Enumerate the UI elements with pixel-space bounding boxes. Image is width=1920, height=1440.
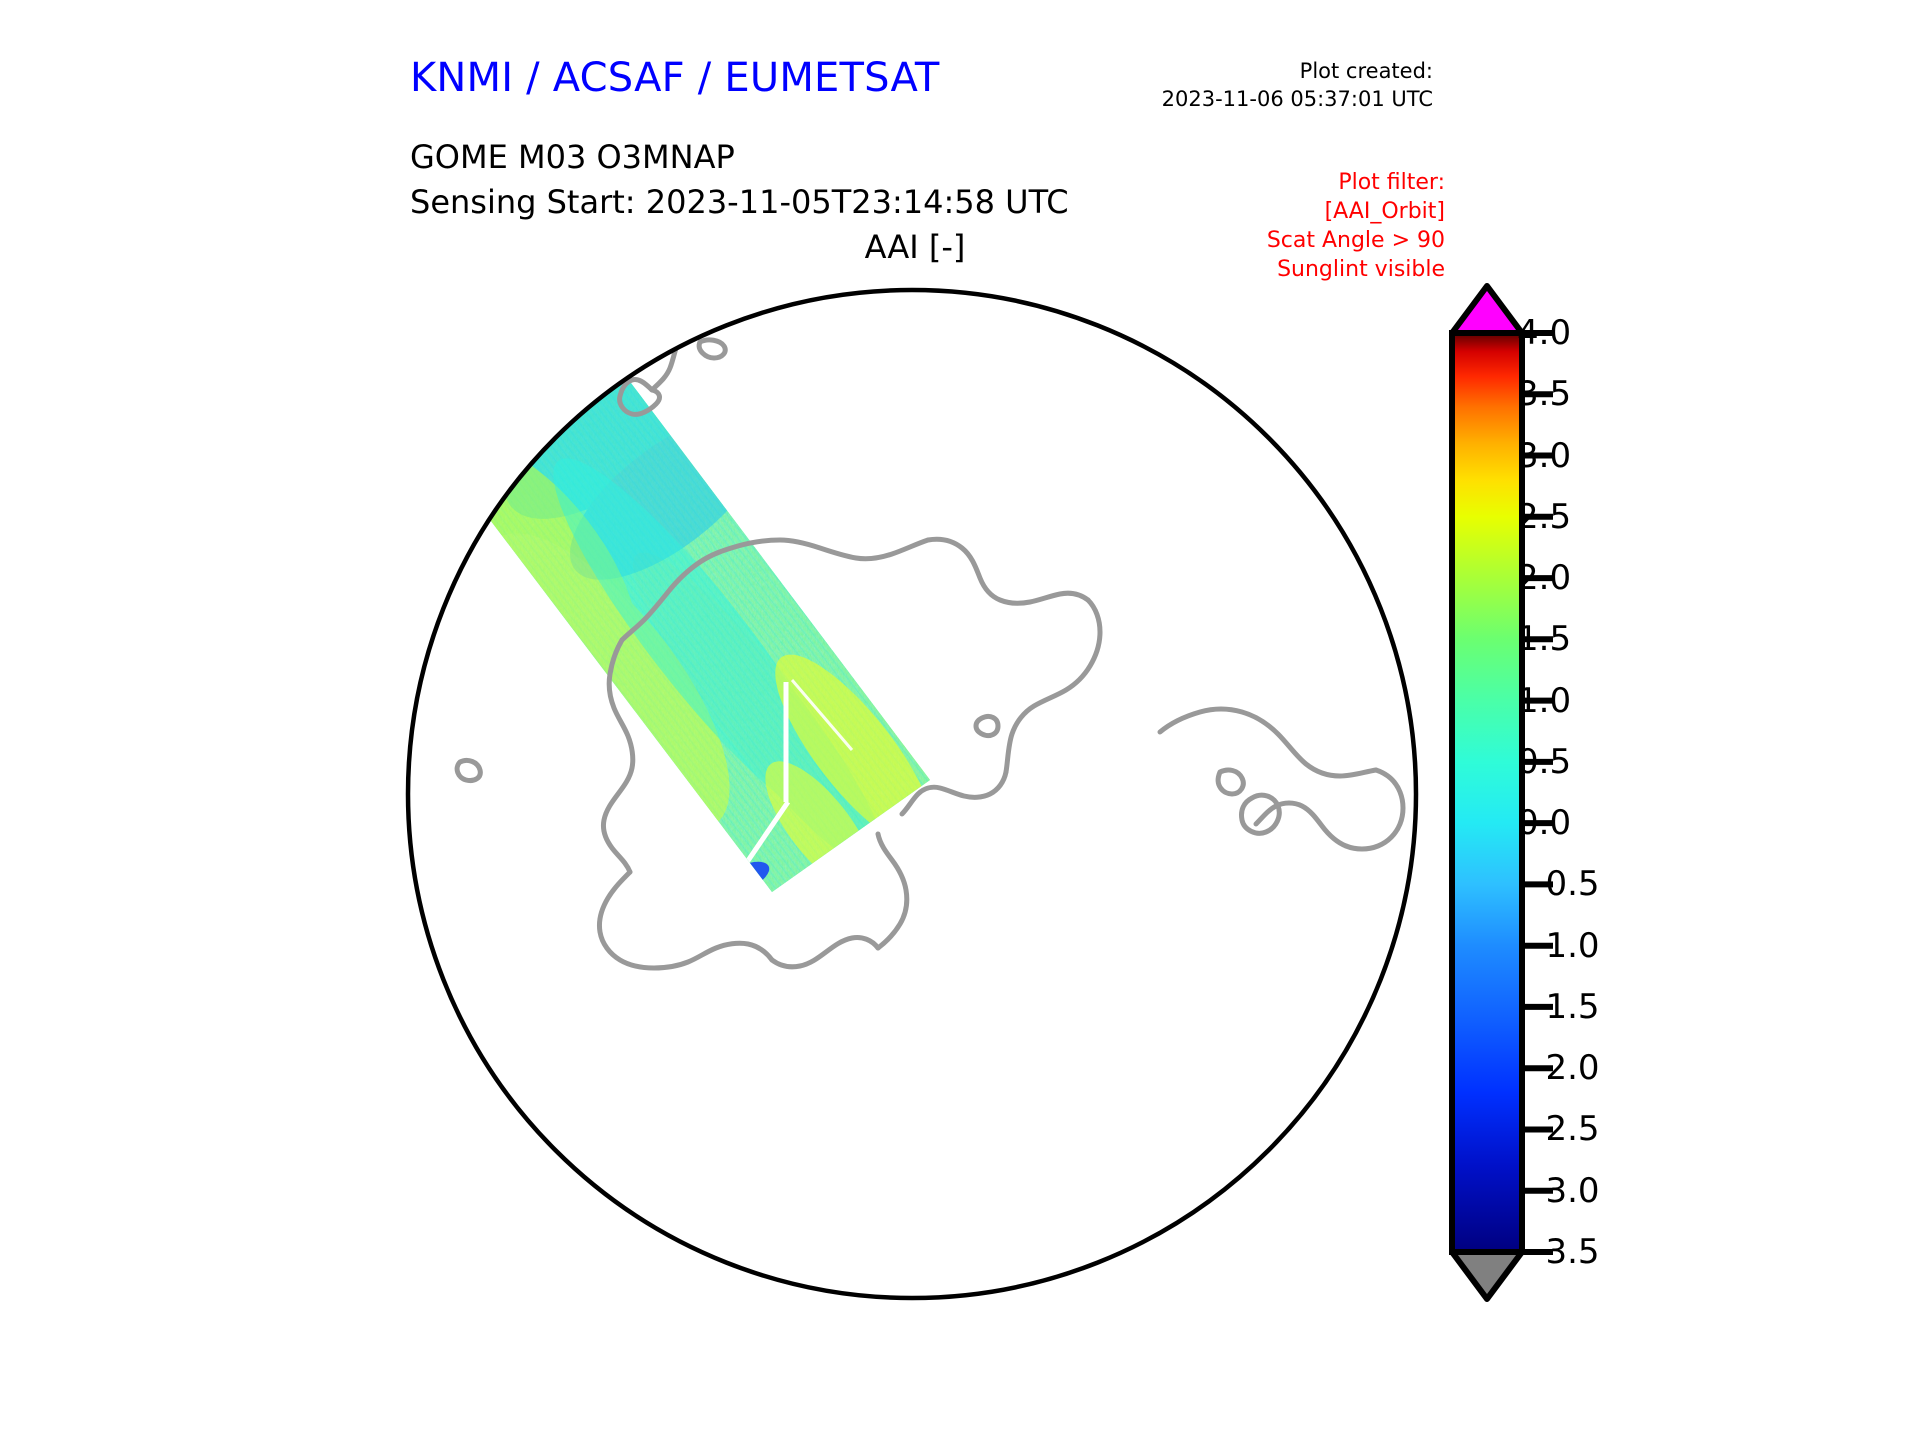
- colorbar-tick-label-4: 2.0: [1517, 558, 1571, 598]
- colorbar-tick-label-0: 4.0: [1517, 313, 1571, 353]
- product-title: GOME M03 O3MNAP: [410, 138, 735, 176]
- plot-filter-line-3: Sunglint visible: [1267, 255, 1445, 284]
- colorbar-tick-label-7: 0.5: [1517, 742, 1571, 782]
- colorbar-tick-label-5: 1.5: [1517, 619, 1571, 659]
- variable-title: AAI [-]: [0, 228, 1875, 266]
- colorbar-tick-label-8: 0.0: [1517, 803, 1571, 843]
- colorbar-tick-label-15: −3.5: [1517, 1232, 1600, 1272]
- colorbar-tick-label-12: −2.0: [1517, 1048, 1600, 1088]
- map-projection-area: [400, 282, 1424, 1306]
- agency-title: KNMI / ACSAF / EUMETSAT: [410, 55, 940, 101]
- plot-canvas: KNMI / ACSAF / EUMETSAT GOME M03 O3MNAP …: [0, 0, 1920, 1440]
- plot-created-label: Plot created:: [1162, 58, 1433, 86]
- sensing-start-label: Sensing Start: 2023-11-05T23:14:58 UTC: [410, 183, 1069, 221]
- plot-created-block: Plot created: 2023-11-06 05:37:01 UTC: [1162, 58, 1433, 114]
- colorbar-tick-label-2: 3.0: [1517, 436, 1571, 476]
- colorbar-tick-label-3: 2.5: [1517, 497, 1571, 537]
- colorbar-tick-label-13: −2.5: [1517, 1109, 1600, 1149]
- colorbar-tick-label-14: −3.0: [1517, 1171, 1600, 1211]
- colorbar-tick-label-9: −0.5: [1517, 864, 1600, 904]
- colorbar-tick-label-1: 3.5: [1517, 374, 1571, 414]
- colorbar-over-arrow: [1452, 286, 1522, 333]
- colorbar-tick-label-6: 1.0: [1517, 681, 1571, 721]
- colorbar-under-arrow: [1452, 1252, 1522, 1299]
- plot-created-time: 2023-11-06 05:37:01 UTC: [1162, 86, 1433, 114]
- plot-filter-line-0: Plot filter:: [1267, 168, 1445, 197]
- colorbar-tick-label-11: −1.5: [1517, 987, 1600, 1027]
- colorbar-tick-label-10: −1.0: [1517, 926, 1600, 966]
- plot-filter-line-1: [AAI_Orbit]: [1267, 197, 1445, 226]
- plot-filter-block: Plot filter: [AAI_Orbit] Scat Angle > 90…: [1267, 168, 1445, 284]
- colorbar[interactable]: 4.0 3.5 3.0 2.5 2.0 1.5 1.0 0.5 0.0 −0.5…: [1425, 278, 1845, 1308]
- colorbar-gradient: [1452, 333, 1522, 1252]
- plot-filter-line-2: Scat Angle > 90: [1267, 226, 1445, 255]
